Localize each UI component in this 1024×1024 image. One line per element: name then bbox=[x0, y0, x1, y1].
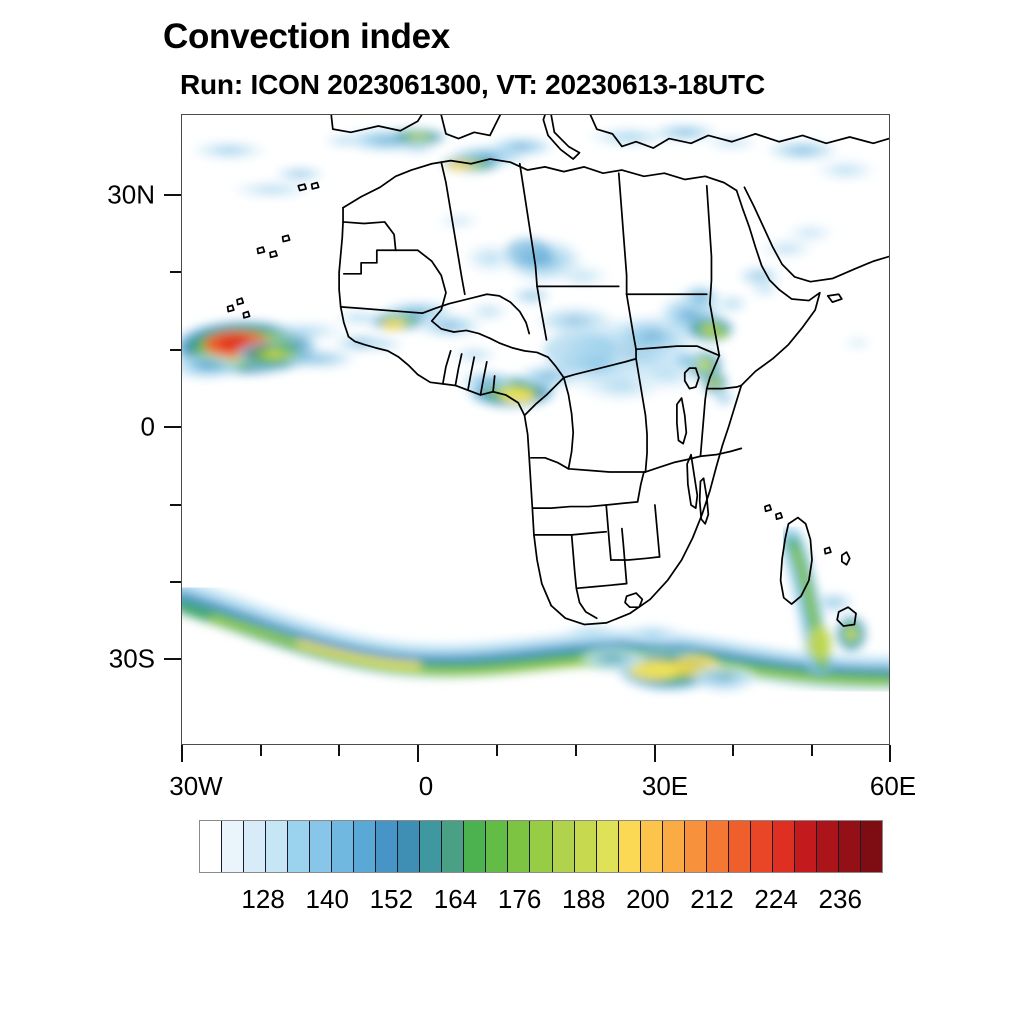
colorbar-cell bbox=[795, 821, 817, 872]
x-tick-0 bbox=[417, 745, 419, 762]
colorbar-cell bbox=[575, 821, 597, 872]
y-tick-20s bbox=[170, 581, 181, 583]
colorbar-tick-label: 188 bbox=[562, 884, 605, 915]
colorbar-cell bbox=[619, 821, 641, 872]
x-axis-label-30e: 30E bbox=[642, 771, 688, 802]
colorbar-tick-label: 212 bbox=[690, 884, 733, 915]
map-plot-area[interactable] bbox=[181, 114, 890, 745]
colorbar-cell bbox=[398, 821, 420, 872]
colorbar-cell bbox=[332, 821, 354, 872]
x-axis-label-30w: 30W bbox=[169, 771, 222, 802]
x-tick-20w bbox=[260, 745, 262, 756]
colorbar-cell bbox=[641, 821, 663, 872]
colorbar-cell bbox=[597, 821, 619, 872]
colorbar-cell bbox=[354, 821, 376, 872]
colorbar-tick-label: 236 bbox=[819, 884, 862, 915]
colorbar[interactable] bbox=[199, 820, 883, 873]
colorbar-cell bbox=[442, 821, 464, 872]
colorbar-cell bbox=[530, 821, 552, 872]
x-tick-20e bbox=[575, 745, 577, 756]
colorbar-cell bbox=[685, 821, 707, 872]
colorbar-cell bbox=[420, 821, 442, 872]
colorbar-cell bbox=[839, 821, 861, 872]
colorbar-tick-label: 140 bbox=[306, 884, 349, 915]
y-tick-30n bbox=[164, 194, 181, 196]
colorbar-cell bbox=[266, 821, 288, 872]
page-title: Convection index bbox=[163, 17, 450, 57]
x-tick-10w bbox=[338, 745, 340, 756]
x-axis-label-0: 0 bbox=[419, 771, 433, 802]
colorbar-cell bbox=[751, 821, 773, 872]
map-canvas bbox=[182, 115, 889, 744]
colorbar-cell bbox=[244, 821, 266, 872]
x-tick-10e bbox=[496, 745, 498, 756]
y-axis-label-30s: 30S bbox=[109, 644, 155, 675]
run-validtime-subtitle: Run: ICON 2023061300, VT: 20230613-18UTC bbox=[180, 69, 765, 101]
colorbar-cell bbox=[729, 821, 751, 872]
colorbar-cell bbox=[508, 821, 530, 872]
colorbar-cell bbox=[288, 821, 310, 872]
colorbar-tick-label: 164 bbox=[434, 884, 477, 915]
colorbar-tick-label: 200 bbox=[626, 884, 669, 915]
colorbar-cell bbox=[464, 821, 486, 872]
colorbar-cell bbox=[861, 821, 882, 872]
x-tick-40e bbox=[732, 745, 734, 756]
colorbar-cell bbox=[553, 821, 575, 872]
colorbar-cell bbox=[663, 821, 685, 872]
x-tick-60e bbox=[889, 745, 891, 762]
y-axis-label-0: 0 bbox=[141, 412, 155, 443]
x-tick-30e bbox=[654, 745, 656, 762]
y-axis-label-30n: 30N bbox=[107, 180, 155, 211]
colorbar-cell bbox=[773, 821, 795, 872]
colorbar-cell bbox=[310, 821, 332, 872]
colorbar-cell bbox=[486, 821, 508, 872]
x-tick-50e bbox=[811, 745, 813, 756]
y-tick-10s bbox=[170, 504, 181, 506]
colorbar-tick-label: 128 bbox=[241, 884, 284, 915]
colorbar-tick-label: 152 bbox=[370, 884, 413, 915]
x-tick-30w bbox=[181, 745, 183, 762]
map-svg bbox=[182, 115, 889, 744]
colorbar-tick-label: 224 bbox=[754, 884, 797, 915]
y-tick-20n bbox=[170, 271, 181, 273]
colorbar-cell bbox=[222, 821, 244, 872]
colorbar-tick-label: 176 bbox=[498, 884, 541, 915]
x-axis-label-60e: 60E bbox=[870, 771, 916, 802]
colorbar-cell bbox=[200, 821, 222, 872]
y-tick-30s bbox=[164, 658, 181, 660]
y-tick-10n bbox=[170, 349, 181, 351]
y-tick-0 bbox=[164, 426, 181, 428]
colorbar-cell bbox=[817, 821, 839, 872]
colorbar-cell bbox=[376, 821, 398, 872]
colorbar-cell bbox=[707, 821, 729, 872]
